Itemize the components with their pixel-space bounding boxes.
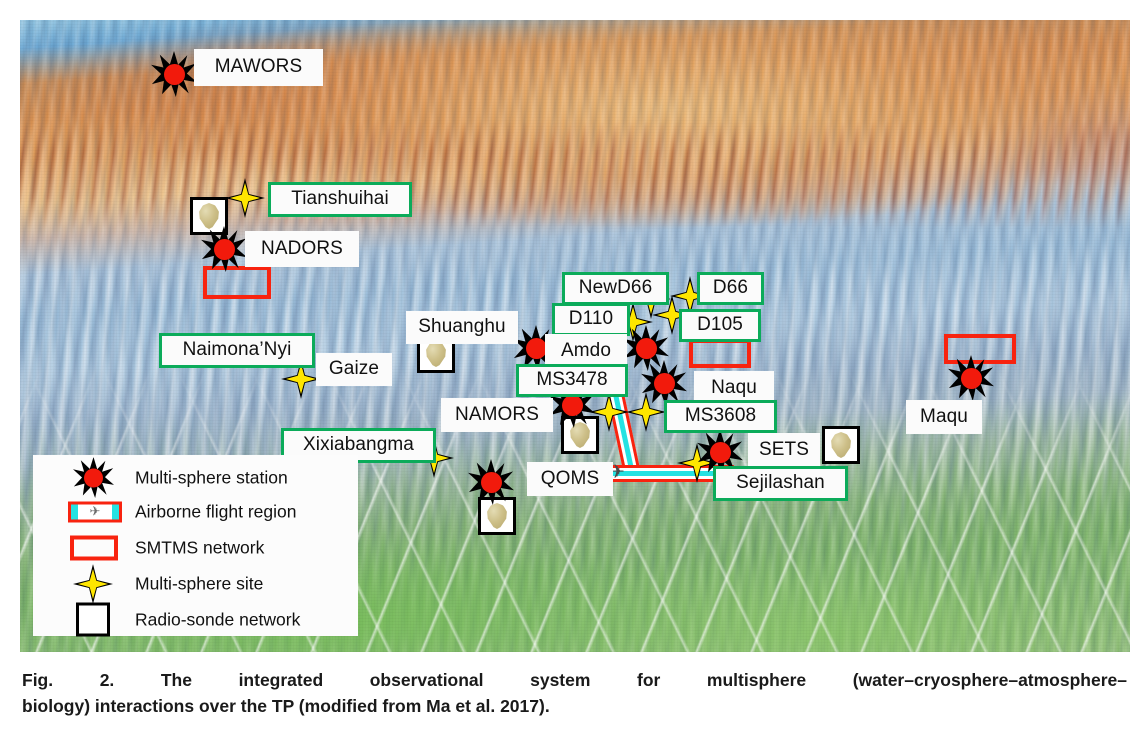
- legend-row-airborne: ✈ Airborne flight region: [33, 495, 358, 528]
- map-label-tianshuihai[interactable]: Tianshuihai: [268, 182, 412, 217]
- station-dot[interactable]: [710, 442, 731, 463]
- map-label-text: D110: [569, 309, 613, 328]
- airborne-flight-region-icon: ✈: [59, 495, 119, 528]
- figure-panel: ✈MAWORSTianshuihaiNADORSNaimona’NyiGaize…: [0, 0, 1142, 732]
- sonde-sets[interactable]: [822, 426, 860, 464]
- map-label-text: QOMS: [541, 469, 599, 488]
- smtms-network-icon: [59, 531, 119, 564]
- star-fill[interactable]: [594, 397, 624, 427]
- station-dot[interactable]: [214, 239, 235, 260]
- star-fill[interactable]: [286, 364, 316, 394]
- map-legend: Multi-sphere station ✈ Airborne flight r…: [33, 455, 358, 636]
- balloon-icon[interactable]: [830, 432, 852, 458]
- map-label-text: D66: [713, 278, 748, 297]
- map-label-text: Shuanghu: [418, 317, 505, 336]
- legend-row-sonde: Radio-sonde network: [33, 603, 358, 636]
- multi-sphere-site-icon: [59, 567, 119, 600]
- map-label-shuanghu[interactable]: Shuanghu: [406, 311, 518, 344]
- map-label-text: Sejilashan: [736, 473, 825, 492]
- map-label-text: Naimona’Nyi: [183, 340, 292, 359]
- map-label-text: NewD66: [579, 278, 652, 297]
- map-label-sejilashan[interactable]: Sejilashan: [713, 466, 848, 501]
- map-label-d110[interactable]: D110: [552, 303, 630, 336]
- balloon-icon[interactable]: [425, 341, 447, 367]
- station-mawors[interactable]: [151, 51, 197, 97]
- map-label-text: Amdo: [561, 341, 611, 360]
- map-label-newd66[interactable]: NewD66: [562, 272, 669, 305]
- star-fill[interactable]: [230, 183, 260, 213]
- map-label-text: Naqu: [711, 378, 757, 397]
- map-label-ms3478[interactable]: MS3478: [516, 364, 628, 397]
- caption-line-2: biology) interactions over the TP (modif…: [22, 694, 1127, 720]
- map-label-gaize[interactable]: Gaize: [316, 353, 392, 386]
- map-label-text: Maqu: [920, 407, 968, 426]
- station-dot[interactable]: [481, 472, 502, 493]
- map-label-text: MAWORS: [215, 57, 303, 76]
- legend-row-site: Multi-sphere site: [33, 567, 358, 600]
- legend-label-sonde: Radio-sonde network: [135, 609, 300, 630]
- map-label-maqu[interactable]: Maqu: [906, 400, 982, 434]
- map-label-text: D105: [697, 315, 743, 334]
- map-label-text: MS3478: [536, 370, 607, 389]
- station-nadors[interactable]: [201, 226, 247, 272]
- station-qoms[interactable]: [468, 459, 514, 505]
- map-label-sets[interactable]: SETS: [748, 433, 820, 467]
- multi-sphere-station-icon: [59, 461, 119, 494]
- map-label-amdo[interactable]: Amdo: [545, 334, 627, 368]
- figure-caption: Fig. 2. The integrated observational sys…: [22, 668, 1127, 720]
- map-label-text: Xixiabangma: [303, 435, 414, 454]
- station-maqu[interactable]: [948, 355, 994, 401]
- station-dot[interactable]: [526, 338, 547, 359]
- map-label-naimona-nyi[interactable]: Naimona’Nyi: [159, 333, 315, 368]
- legend-label-site: Multi-sphere site: [135, 573, 263, 594]
- map-label-text: SETS: [759, 440, 809, 459]
- station-dot[interactable]: [961, 368, 982, 389]
- station-dot[interactable]: [164, 64, 185, 85]
- site-namors[interactable]: [589, 392, 629, 432]
- legend-label-station: Multi-sphere station: [135, 467, 288, 488]
- legend-row-smtms: SMTMS network: [33, 531, 358, 564]
- legend-row-station: Multi-sphere station: [33, 461, 358, 494]
- station-dot[interactable]: [636, 338, 657, 359]
- smtms-naqu[interactable]: [689, 339, 751, 368]
- map-label-text: Tianshuihai: [291, 189, 389, 208]
- map-label-d66[interactable]: D66: [697, 272, 764, 305]
- map-label-text: NAMORS: [455, 405, 539, 424]
- station-dot[interactable]: [562, 395, 583, 416]
- radio-sonde-network-icon: [59, 603, 119, 636]
- map-label-qoms[interactable]: QOMS: [527, 462, 613, 496]
- legend-label-airborne: Airborne flight region: [135, 501, 296, 522]
- map-label-text: Gaize: [329, 359, 379, 378]
- legend-label-smtms: SMTMS network: [135, 537, 264, 558]
- caption-line-1: Fig. 2. The integrated observational sys…: [22, 668, 1127, 694]
- map-label-text: MS3608: [685, 406, 756, 425]
- balloon-icon[interactable]: [486, 503, 508, 529]
- map-label-nadors[interactable]: NADORS: [245, 231, 359, 267]
- station-dot[interactable]: [654, 373, 675, 394]
- airplane-icon: ✈: [90, 505, 101, 518]
- map-label-mawors[interactable]: MAWORS: [194, 49, 323, 86]
- site-tianshuihai[interactable]: [225, 178, 265, 218]
- map-label-namors[interactable]: NAMORS: [441, 398, 553, 432]
- map-label-d105[interactable]: D105: [679, 309, 761, 342]
- map-label-text: NADORS: [261, 239, 343, 258]
- map-label-ms3608[interactable]: MS3608: [664, 400, 777, 433]
